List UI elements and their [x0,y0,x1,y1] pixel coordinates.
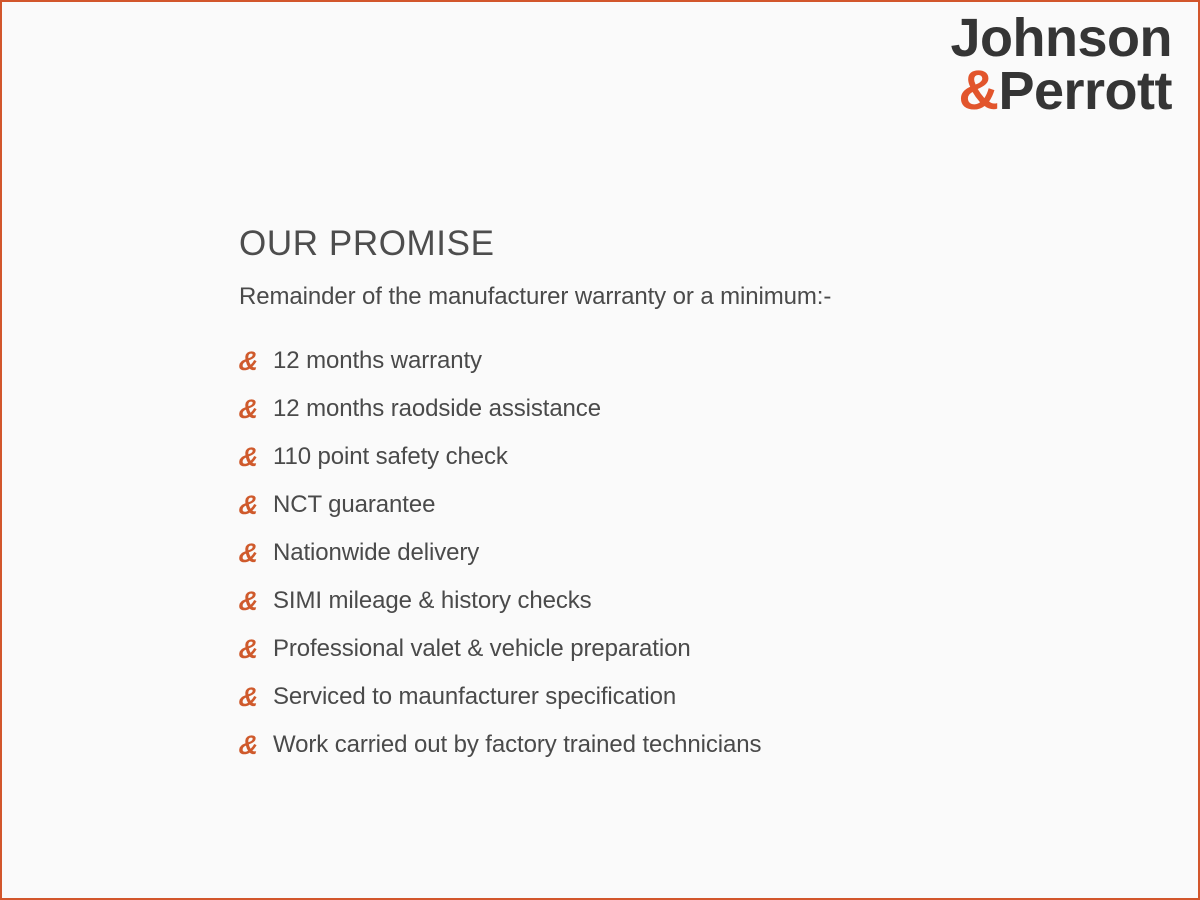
subtitle-text: Remainder of the manufacturer warranty o… [239,283,1158,311]
johnson-and-perrott-logo: Johnson &Perrott [902,14,1172,116]
list-item-label: Professional valet & vehicle preparation [273,635,691,663]
ampersand-bullet-icon: & [238,732,275,759]
list-item-label: Nationwide delivery [273,539,479,567]
list-item: & 12 months raodside assistance [239,385,1158,433]
list-item-label: 12 months raodside assistance [273,395,601,423]
list-item-label: Work carried out by factory trained tech… [273,731,761,759]
list-item: & Professional valet & vehicle preparati… [239,625,1158,673]
ampersand-bullet-icon: & [238,492,275,519]
page-title: OUR PROMISE [239,224,1158,264]
content-area: OUR PROMISE Remainder of the manufacture… [239,224,1158,769]
list-item-label: SIMI mileage & history checks [273,587,592,615]
list-item: & 12 months warranty [239,337,1158,385]
list-item-label: NCT guarantee [273,491,435,519]
ampersand-bullet-icon: & [238,588,275,615]
list-item-label: 12 months warranty [273,347,482,375]
list-item: & Work carried out by factory trained te… [239,721,1158,769]
ampersand-bullet-icon: & [238,636,275,663]
logo-word-perrott: &Perrott [902,64,1172,117]
logo-word-johnson: Johnson [902,14,1172,64]
ampersand-bullet-icon: & [238,348,275,375]
list-item: & 110 point safety check [239,433,1158,481]
promise-list: & 12 months warranty & 12 months raodsid… [239,337,1158,769]
list-item: & SIMI mileage & history checks [239,577,1158,625]
list-item: & NCT guarantee [239,481,1158,529]
ampersand-bullet-icon: & [238,684,275,711]
ampersand-bullet-icon: & [238,396,275,423]
list-item-label: 110 point safety check [273,443,508,471]
list-item: & Serviced to maunfacturer specification [239,673,1158,721]
ampersand-bullet-icon: & [238,444,275,471]
promise-card: Johnson &Perrott OUR PROMISE Remainder o… [0,0,1200,900]
logo-word-perrott-text: Perrott [998,61,1172,121]
list-item-label: Serviced to maunfacturer specification [273,683,676,711]
ampersand-icon: & [959,58,999,121]
ampersand-bullet-icon: & [238,540,275,567]
list-item: & Nationwide delivery [239,529,1158,577]
